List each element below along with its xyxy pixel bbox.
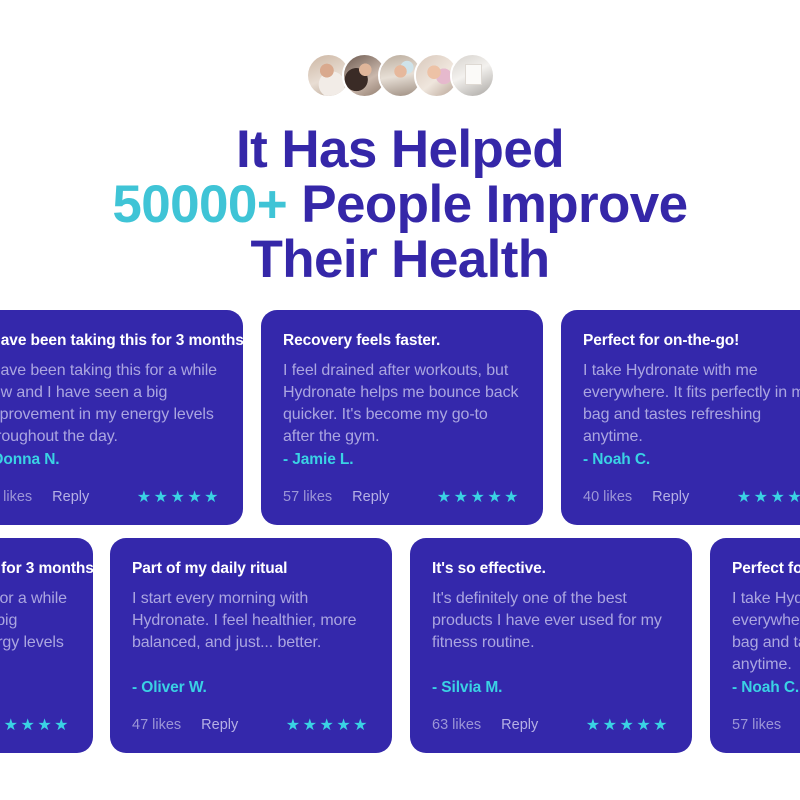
star-rating: ★★★★★ — [137, 487, 221, 507]
testimonial-title: I have been taking this for 3 months. — [0, 332, 221, 350]
testimonial-footer: 57 likesReply★★★★★ — [732, 715, 800, 735]
likes-count: 63 likes — [432, 717, 481, 733]
star-rating: ★★★★★ — [286, 715, 370, 735]
testimonial-footer: 40 likesReply★★★★★ — [583, 487, 800, 507]
testimonial-author: - Silvia M. — [432, 679, 502, 697]
testimonial-title: Perfect for on-the-go! — [732, 560, 800, 578]
headline-line-1: It Has Helped — [60, 122, 740, 177]
headline-line-3-text: Their Health — [250, 230, 549, 289]
testimonial-card: Recovery feels faster.I feel drained aft… — [261, 310, 543, 525]
reply-button[interactable]: Reply — [501, 717, 538, 733]
testimonial-row-2: I have been taking this for 3 months.I h… — [0, 538, 800, 753]
headline-highlight: 50000+ — [112, 175, 287, 234]
testimonial-footer: 57 likesReply★★★★★ — [283, 487, 521, 507]
headline-line-2-text: People Improve — [287, 175, 687, 234]
avatar-cluster — [0, 0, 800, 98]
testimonial-card: I have been taking this for 3 months.I h… — [0, 538, 93, 753]
testimonial-footer: 47 likesReply★★★★★ — [132, 715, 370, 735]
headline-line-3: Their Health — [60, 232, 740, 287]
testimonial-author: - Donna N. — [0, 451, 60, 469]
testimonial-card: I have been taking this for 3 months.I h… — [0, 310, 243, 525]
likes-count: 52 likes — [0, 489, 32, 505]
reply-button[interactable]: Reply — [652, 489, 689, 505]
testimonial-row-1: I have been taking this for 3 months.I h… — [0, 310, 800, 525]
testimonial-author: - Noah C. — [583, 451, 650, 469]
testimonial-body: I take Hydronate with me everywhere. It … — [583, 360, 800, 448]
likes-count: 40 likes — [583, 489, 632, 505]
testimonial-body: I have been taking this for a while now … — [0, 360, 221, 448]
page-title: It Has Helped 50000+ People Improve Thei… — [0, 122, 800, 287]
testimonial-card: Perfect for on-the-go!I take Hydronate w… — [561, 310, 800, 525]
testimonial-body: I take Hydronate with me everywhere. It … — [732, 588, 800, 676]
testimonial-title: Recovery feels faster. — [283, 332, 521, 350]
star-rating: ★★★★★ — [737, 487, 800, 507]
star-rating: ★★★★★ — [437, 487, 521, 507]
testimonial-footer: 52 likesReply★★★★★ — [0, 487, 221, 507]
testimonial-author: - Oliver W. — [132, 679, 207, 697]
testimonial-author: - Noah C. — [732, 679, 799, 697]
reply-button[interactable]: Reply — [201, 717, 238, 733]
testimonial-body: I start every morning with Hydronate. I … — [132, 588, 370, 654]
testimonial-body: I have been taking this for a while now … — [0, 588, 71, 676]
testimonial-footer: 52 likesReply★★★★★ — [0, 715, 71, 735]
likes-count: 57 likes — [283, 489, 332, 505]
headline-line-2: 50000+ People Improve — [60, 177, 740, 232]
testimonial-card: It's so effective.It's definitely one of… — [410, 538, 692, 753]
testimonial-author: - Jamie L. — [283, 451, 354, 469]
reply-button[interactable]: Reply — [52, 489, 89, 505]
avatar — [450, 53, 495, 98]
likes-count: 57 likes — [732, 717, 781, 733]
likes-count: 47 likes — [132, 717, 181, 733]
testimonial-title: I have been taking this for 3 months. — [0, 560, 71, 578]
testimonial-title: It's so effective. — [432, 560, 670, 578]
testimonial-card: Perfect for on-the-go!I take Hydronate w… — [710, 538, 800, 753]
star-rating: ★★★★★ — [586, 715, 670, 735]
testimonial-footer: 63 likesReply★★★★★ — [432, 715, 670, 735]
testimonial-body: It's definitely one of the best products… — [432, 588, 670, 654]
testimonial-title: Part of my daily ritual — [132, 560, 370, 578]
star-rating: ★★★★★ — [0, 715, 71, 735]
testimonial-body: I feel drained after workouts, but Hydro… — [283, 360, 521, 448]
reply-button[interactable]: Reply — [352, 489, 389, 505]
testimonial-title: Perfect for on-the-go! — [583, 332, 800, 350]
testimonial-card: Part of my daily ritualI start every mor… — [110, 538, 392, 753]
avatar-photo — [452, 55, 493, 96]
headline-line-1-text: It Has Helped — [236, 120, 564, 179]
